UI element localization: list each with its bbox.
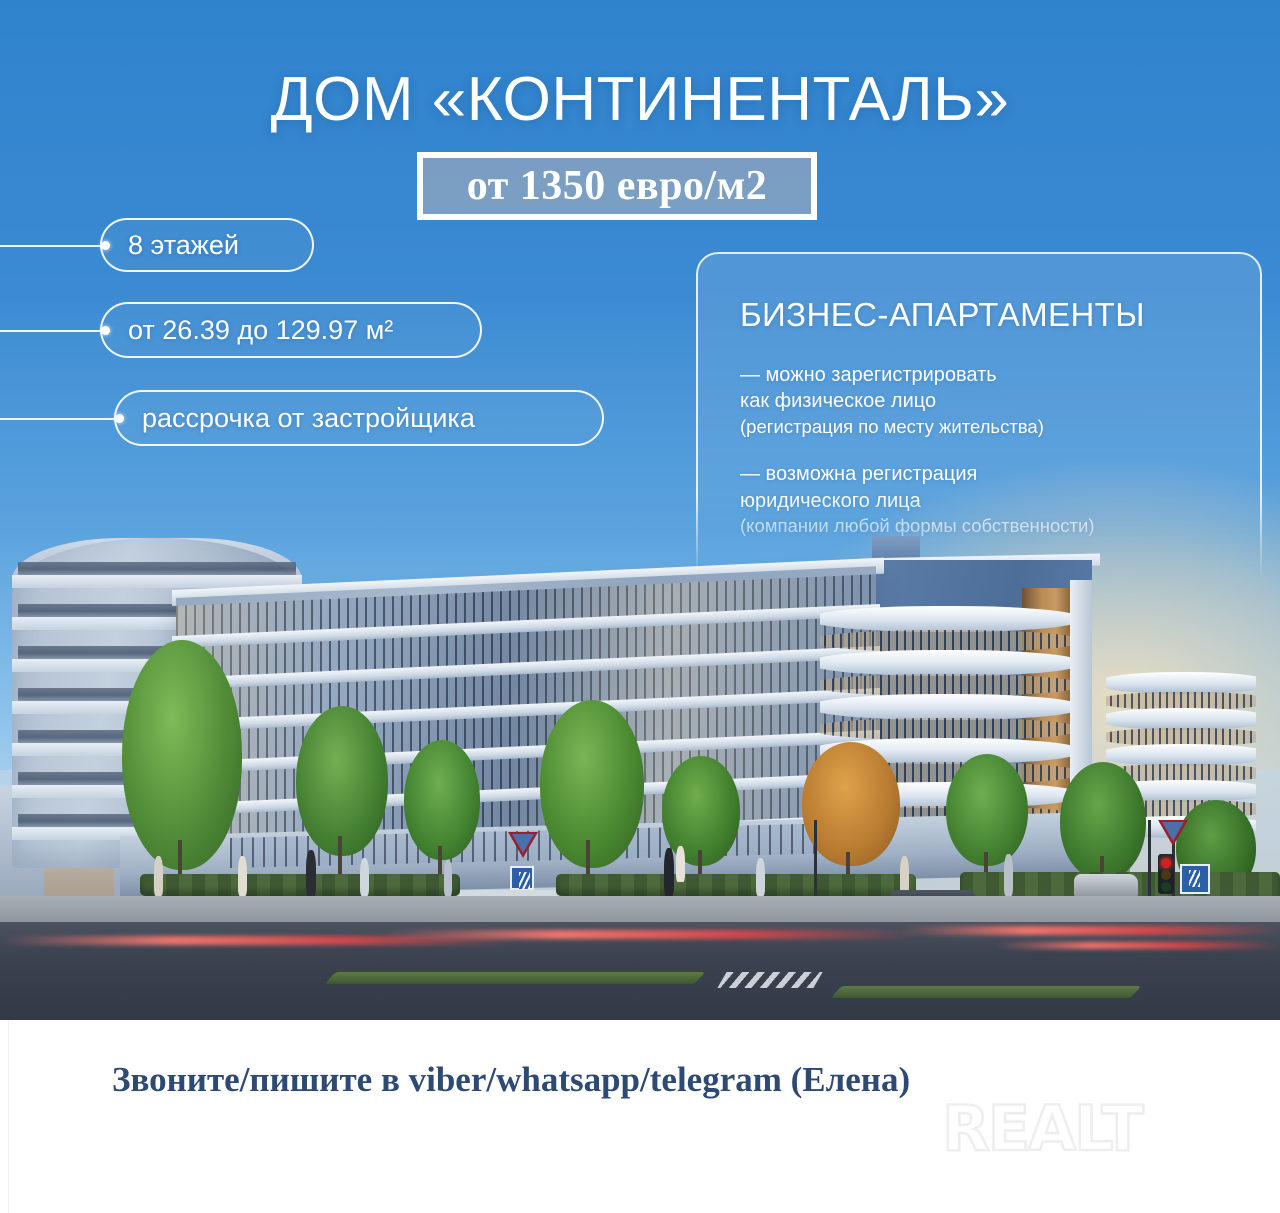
pedestrian bbox=[306, 850, 316, 896]
promo-banner: ДОМ «КОНТИНЕНТАЛЬ» от 1350 евро/м2 8 эта… bbox=[0, 0, 1280, 1213]
feature-pill-floors[interactable]: 8 этажей bbox=[100, 218, 314, 272]
tree bbox=[540, 700, 644, 868]
lamp-post bbox=[1148, 820, 1151, 900]
info-card-block: — возможна регистрация юридического лица… bbox=[740, 461, 1222, 538]
info-card-line: как физическое лицо bbox=[740, 388, 1222, 414]
realt-watermark-logo: REALT bbox=[942, 1092, 1142, 1165]
lamp-post bbox=[814, 820, 817, 898]
info-card-line: юридического лица bbox=[740, 488, 1222, 514]
pedestrian bbox=[238, 856, 247, 896]
pedestrian-crossing-sign-icon bbox=[1180, 864, 1210, 894]
tree bbox=[404, 740, 480, 860]
main-building bbox=[176, 566, 876, 860]
info-card-line: — можно зарегистрировать bbox=[740, 362, 1222, 388]
car-light-trail bbox=[380, 930, 920, 939]
info-card-line: (регистрация по месту жительства) bbox=[740, 415, 1222, 439]
tree bbox=[946, 754, 1028, 866]
pedestrian-crossing-sign-icon bbox=[510, 866, 534, 890]
road-median bbox=[831, 986, 1142, 998]
tree bbox=[122, 640, 242, 870]
pedestrian bbox=[360, 858, 369, 896]
feature-pill-label: 8 этажей bbox=[128, 230, 239, 261]
page-title: ДОМ «КОНТИНЕНТАЛЬ» bbox=[0, 64, 1280, 135]
traffic-light-icon bbox=[1158, 854, 1174, 894]
car-light-trail bbox=[900, 926, 1280, 935]
car bbox=[1074, 874, 1138, 898]
road-median bbox=[325, 972, 706, 984]
building-render-image: ДОМ «КОНТИНЕНТАЛЬ» от 1350 евро/м2 8 эта… bbox=[0, 0, 1280, 1020]
pedestrian bbox=[444, 860, 452, 896]
leader-line bbox=[0, 418, 120, 420]
yield-sign-icon bbox=[1158, 820, 1188, 846]
car-light-trail bbox=[996, 942, 1280, 949]
yield-sign-icon bbox=[508, 832, 538, 858]
price-badge: от 1350 евро/м2 bbox=[417, 152, 817, 220]
pedestrian bbox=[154, 856, 163, 896]
price-badge-label: от 1350 евро/м2 bbox=[467, 162, 768, 210]
info-card-line: (компании любой формы собственности) bbox=[740, 514, 1222, 538]
contact-text: Звоните/пишите в viber/whatsapp/telegram… bbox=[112, 1060, 910, 1100]
hedge bbox=[556, 874, 916, 896]
tree bbox=[296, 706, 388, 856]
pedestrian bbox=[1004, 854, 1013, 896]
feature-pill-installment[interactable]: рассрочка от застройщика bbox=[114, 390, 604, 446]
info-card-line: — возможна регистрация bbox=[740, 461, 1222, 487]
pedestrian bbox=[664, 848, 674, 896]
info-card-block: — можно зарегистрировать как физическое … bbox=[740, 362, 1222, 439]
pedestrian bbox=[756, 858, 765, 896]
crosswalk-marking bbox=[717, 972, 822, 988]
feature-pill-label: от 26.39 до 129.97 м² bbox=[128, 315, 393, 346]
feature-pill-area[interactable]: от 26.39 до 129.97 м² bbox=[100, 302, 482, 358]
feature-pill-label: рассрочка от застройщика bbox=[142, 403, 475, 434]
leader-line bbox=[0, 245, 106, 247]
info-card-business-apartments: БИЗНЕС-АПАРТАМЕНТЫ — можно зарегистриров… bbox=[696, 252, 1262, 582]
hedge bbox=[140, 874, 460, 896]
leader-line bbox=[0, 330, 106, 332]
info-card-heading: БИЗНЕС-АПАРТАМЕНТЫ bbox=[740, 296, 1222, 334]
pedestrian bbox=[676, 846, 685, 882]
